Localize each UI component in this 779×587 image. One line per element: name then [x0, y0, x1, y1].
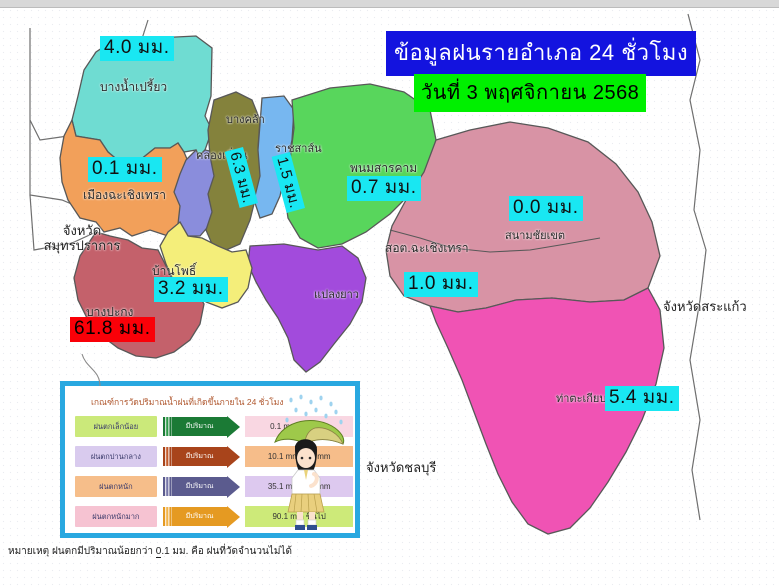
legend-category-label: ฝนตกหนักมาก: [75, 506, 157, 527]
legend-category-label: ฝนตกหนัก: [75, 476, 157, 497]
district-label-thatakiap: ท่าตะเกียบ: [556, 389, 606, 407]
province-label-sakaeo: จังหวัดสระแก้ว: [663, 300, 747, 315]
footnote-suffix: .1 มม. คือ ฝนที่วัดจำนวนไม่ได้: [161, 546, 292, 557]
province-label-samutprakan: จังหวัด สมุทรปราการ: [34, 224, 130, 254]
value-chip-banpho[interactable]: 3.2 มม.: [154, 277, 228, 302]
legend-title: เกณฑ์การวัดปริมาณน้ำฝนที่เกิดขึ้นภายใน 2…: [91, 395, 284, 409]
legend-connector-line: [56, 330, 136, 390]
legend-arrow-head: [227, 476, 240, 498]
value-chip-bangnamprieo[interactable]: 4.0 มม.: [100, 36, 174, 61]
rainfall-legend-panel: เกณฑ์การวัดปริมาณน้ำฝนที่เกิดขึ้นภายใน 2…: [60, 381, 360, 538]
legend-arrow-label: มีปริมาณ: [172, 417, 228, 436]
district-label-sot-chachoengsao: สอต.ฉะเชิงเทรา: [385, 239, 469, 258]
province-label-samutprakan-line2: สมุทรปราการ: [34, 239, 130, 254]
district-label-bangnamprieo: บางน้ำเปรี้ยว: [100, 78, 167, 97]
girl-with-umbrella-illustration: [269, 394, 351, 534]
value-chip-muang[interactable]: 0.1 มม.: [88, 157, 162, 182]
legend-arrow-bars: [163, 477, 172, 496]
value-chip-sanamchaikhet[interactable]: 0.0 มม.: [509, 196, 583, 221]
shoe-icon: [295, 525, 305, 530]
legend-arrow-label: มีปริมาณ: [172, 507, 228, 526]
legend-arrow: มีปริมาณ: [163, 417, 241, 436]
legend-category-label: ฝนตกเล็กน้อย: [75, 416, 157, 437]
page-title: ข้อมูลฝนรายอำเภอ 24 ชั่วโมง: [386, 31, 696, 76]
legend-arrow-label: มีปริมาณ: [172, 447, 228, 466]
legend-arrow-head: [227, 416, 240, 438]
district-label-sanamchaikhet: สนามชัยเขต: [505, 226, 565, 244]
legend-arrow-bars: [163, 447, 172, 466]
date-badge: วันที่ 3 พฤศจิกายน 2568: [414, 74, 646, 112]
legend-arrow-bars: [163, 417, 172, 436]
skirt-icon: [288, 494, 324, 512]
shoe-icon: [307, 525, 317, 530]
legend-arrow-head: [227, 506, 240, 528]
legend-arrow-head: [227, 446, 240, 468]
district-shape-plaengyao[interactable]: [248, 244, 366, 372]
legend-arrow: มีปริมาณ: [163, 477, 241, 496]
footnote: หมายเหตุ ฝนตกมีปริมาณน้อยกว่า 0.1 มม. คื…: [8, 544, 292, 559]
district-label-muang: เมืองฉะเชิงเทรา: [83, 186, 166, 205]
legend-arrow-bars: [163, 507, 172, 526]
district-label-plaengyao: แปลงยาว: [314, 285, 359, 303]
province-label-samutprakan-line1: จังหวัด: [34, 224, 130, 239]
legend-category-label: ฝนตกปานกลาง: [75, 446, 157, 467]
legend-arrow: มีปริมาณ: [163, 447, 241, 466]
rainfall-map-page: บางน้ำเปรี้ยว เมืองฉะเชิงเทรา คลองเขื่อน…: [0, 0, 779, 587]
legend-arrow: มีปริมาณ: [163, 507, 241, 526]
province-label-chonburi: จังหวัดชลบุรี: [366, 461, 436, 476]
district-label-bangkhla: บางคล้า: [226, 110, 265, 128]
value-chip-sot-chachoengsao[interactable]: 1.0 มม.: [404, 272, 478, 297]
value-chip-thatakiap[interactable]: 5.4 มม.: [605, 386, 679, 411]
district-shape-thatakiap[interactable]: [430, 288, 664, 534]
footnote-prefix: หมายเหตุ ฝนตกมีปริมาณน้อยกว่า: [8, 546, 156, 557]
legend-arrow-label: มีปริมาณ: [172, 477, 228, 496]
value-chip-phanomsarakham[interactable]: 0.7 มม.: [347, 176, 421, 201]
